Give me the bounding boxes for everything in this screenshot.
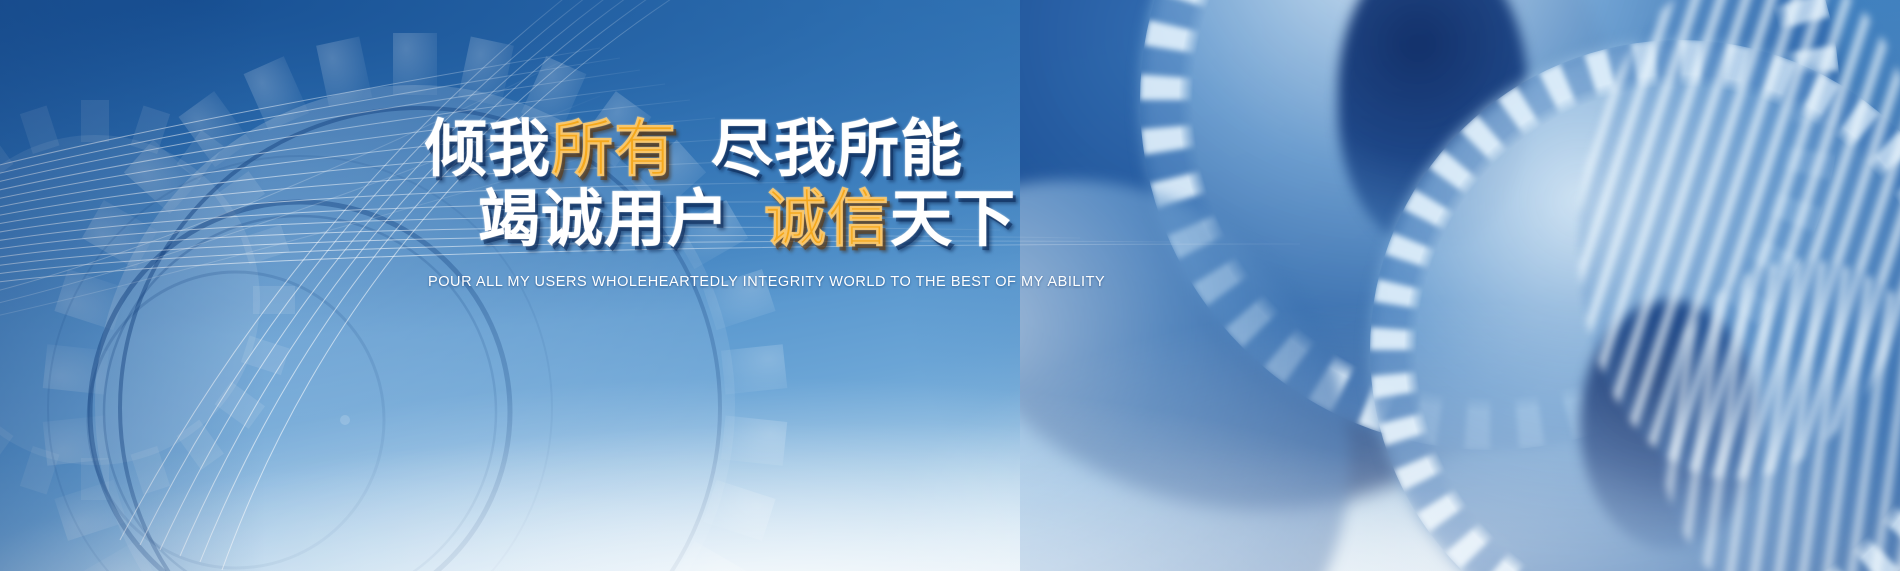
- line-fan-decoration: [0, 0, 1900, 571]
- hero-banner: 倾我所有尽我所能 竭诚用户诚信天下 POUR ALL MY USERS WHOL…: [0, 0, 1900, 571]
